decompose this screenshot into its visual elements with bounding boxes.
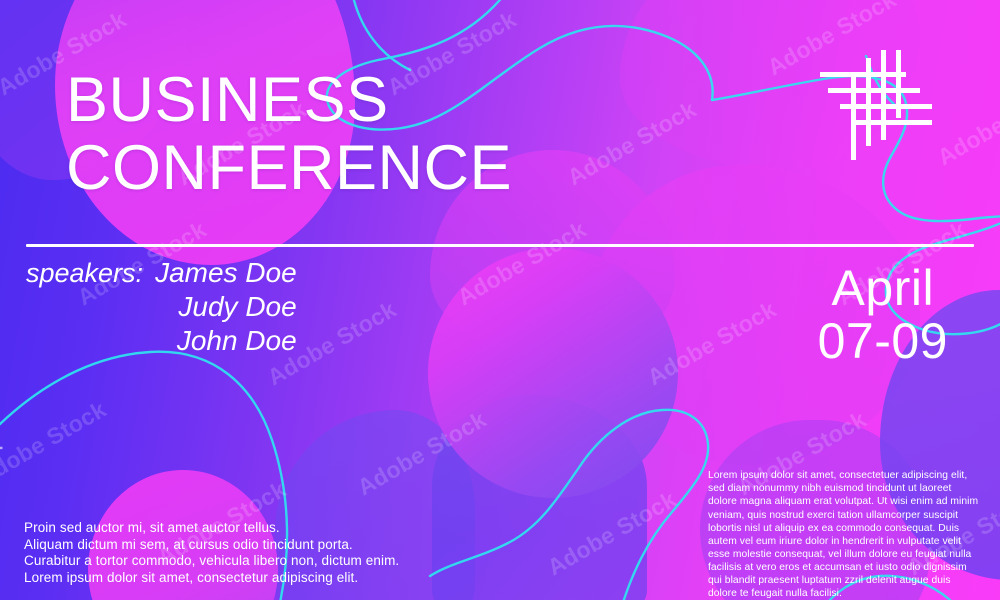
blob-top-right-soft [620, 0, 920, 170]
speakers-block: speakers: James Doe Judy Doe John Doe [26, 256, 297, 358]
watermark-text: Adobe Stock [543, 486, 681, 581]
watermark-stock-id: Adobe Stock | #251266980 [0, 328, 4, 578]
date-days: 07-09 [818, 315, 948, 368]
speaker-name: John Doe [155, 324, 297, 358]
blob-center-circle [428, 248, 678, 498]
speakers-list: James Doe Judy Doe John Doe [155, 256, 297, 358]
left-note-line: Curabitur a tortor commodo, vehicula lib… [24, 553, 399, 570]
blob-center-stem [432, 395, 647, 600]
title-line-2: CONFERENCE [66, 134, 512, 202]
left-note-line: Lorem ipsum dolor sit amet, consectetur … [24, 570, 399, 587]
watermark-text: Adobe Stock [0, 396, 111, 491]
date-month: April [818, 262, 948, 315]
left-note-line: Aliquam dictum mi sem, at cursus odio ti… [24, 537, 399, 554]
body-copy: Lorem ipsum dolor sit amet, consectetuer… [708, 469, 980, 600]
page-title: BUSINESS CONFERENCE [66, 66, 512, 202]
event-date: April 07-09 [818, 262, 948, 367]
watermark-text: Adobe Stock [353, 406, 491, 501]
watermark-text: Adobe Stock [933, 76, 1000, 171]
speaker-name: Judy Doe [155, 290, 297, 324]
hash-grid-icon [820, 50, 940, 170]
watermark-text: Adobe Stock [563, 96, 701, 191]
watermark-text: Adobe Stock [643, 296, 781, 391]
left-note-line: Proin sed auctor mi, sit amet auctor tel… [24, 520, 399, 537]
left-notes-block: Proin sed auctor mi, sit amet auctor tel… [24, 520, 399, 586]
watermark-text: Adobe Stock [453, 216, 591, 311]
poster-canvas: BUSINESS CONFERENCE speakers: James Doe … [0, 0, 1000, 600]
speakers-label: speakers: [26, 256, 155, 290]
speaker-name: James Doe [155, 256, 297, 290]
horizontal-divider [26, 244, 974, 247]
title-line-1: BUSINESS [66, 66, 512, 134]
watermark-text: Adobe Stock [763, 0, 901, 81]
